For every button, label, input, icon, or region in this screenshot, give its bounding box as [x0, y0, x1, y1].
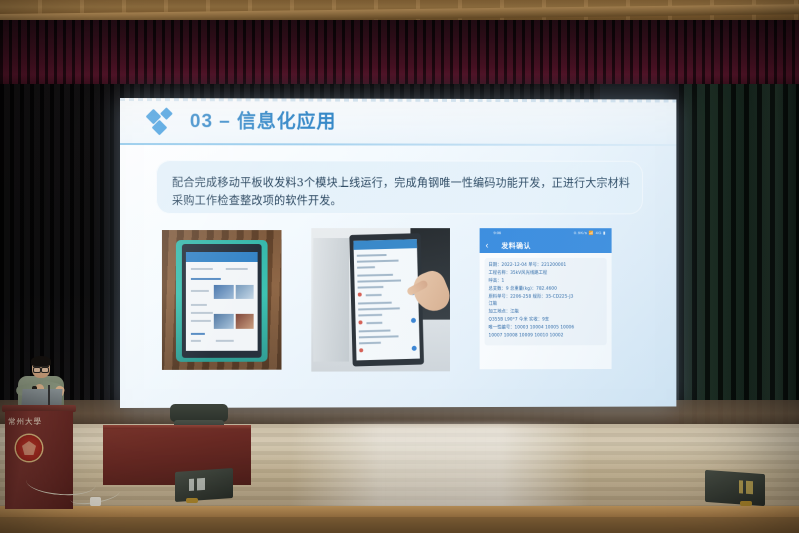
status-icons: 0.9K/s 📶 4G ▮ — [574, 230, 606, 235]
university-crest — [16, 435, 42, 461]
chevron-left-icon[interactable]: ‹ — [486, 240, 489, 250]
detail-line: 加工地点：江能 — [489, 309, 605, 317]
stage-front-panel — [0, 517, 799, 533]
detail-line: 原料单号：2206-258 规形：35-CD225-J3 — [489, 293, 605, 301]
detail-line: 唯一性编号：10003 10004 10005 10006 — [489, 325, 605, 333]
cable-plug — [90, 497, 101, 506]
three-diamonds-logo — [148, 109, 180, 135]
glasses-icon — [33, 366, 49, 371]
mobile-detail-lines: 日期：2022-12-04 单号：221200001 工程名称：35kV风光线路… — [489, 262, 605, 340]
presentation-slide: 03 – 信息化应用 配合完成移动平板收发料3个模块上线运行，完成角钢唯一性编码… — [120, 98, 676, 408]
podium-institution-name: 常州大學 — [8, 416, 42, 427]
tablet-in-teal-case-photo — [162, 230, 282, 370]
detail-line: Q355B L90*7 今米 实收：9支 — [489, 317, 605, 325]
slide-body-text: 配合完成移动平板收发料3个模块上线运行，完成角钢唯一性编码功能开发，正进行大宗材… — [172, 174, 637, 211]
mobile-app-screenshot: 9:06 0.9K/s 📶 4G ▮ ‹ 发料确认 日期：2022-12-04 … — [480, 228, 612, 369]
slide-title: 03 – 信息化应用 — [190, 106, 336, 133]
detail-line: 日期：2022-12-04 单号：221200001 — [489, 262, 605, 270]
detail-line: 江能 — [489, 301, 605, 309]
speaker-foot — [186, 498, 198, 503]
detail-line: 呼高：1 — [489, 278, 605, 286]
side-curtain — [679, 84, 799, 429]
presenter-laptop — [21, 389, 62, 406]
speaker-foot — [740, 501, 752, 506]
hand-holding-tablet-photo — [311, 228, 450, 372]
mobile-nav-bar — [480, 237, 612, 253]
stage-floor-highlight — [290, 424, 590, 512]
detail-line: 总支数：9 总重量(kg)：782.4600 — [489, 285, 605, 293]
stage-monitor-speaker — [705, 470, 765, 506]
maroon-curtain — [0, 20, 799, 90]
detail-line: 工程名称：35kV风光线路工程 — [489, 270, 605, 278]
speaker-podium: 常州大學 — [2, 405, 76, 513]
detail-line: 10007 10008 10009 10010 10002 — [489, 332, 605, 340]
projection-screen: 03 – 信息化应用 配合完成移动平板收发料3个模块上线运行，完成角钢唯一性编码… — [120, 98, 676, 408]
auditorium-scene: 03 – 信息化应用 配合完成移动平板收发料3个模块上线运行，完成角钢唯一性编码… — [0, 0, 799, 533]
slide-photo-row: 9:06 0.9K/s 📶 4G ▮ ‹ 发料确认 日期：2022-12-04 … — [120, 228, 676, 378]
mobile-nav-title: 发料确认 — [501, 241, 531, 251]
status-time: 9:06 — [493, 230, 501, 235]
stage-monitor-speaker — [175, 468, 233, 502]
slide-header-rule — [120, 143, 676, 146]
